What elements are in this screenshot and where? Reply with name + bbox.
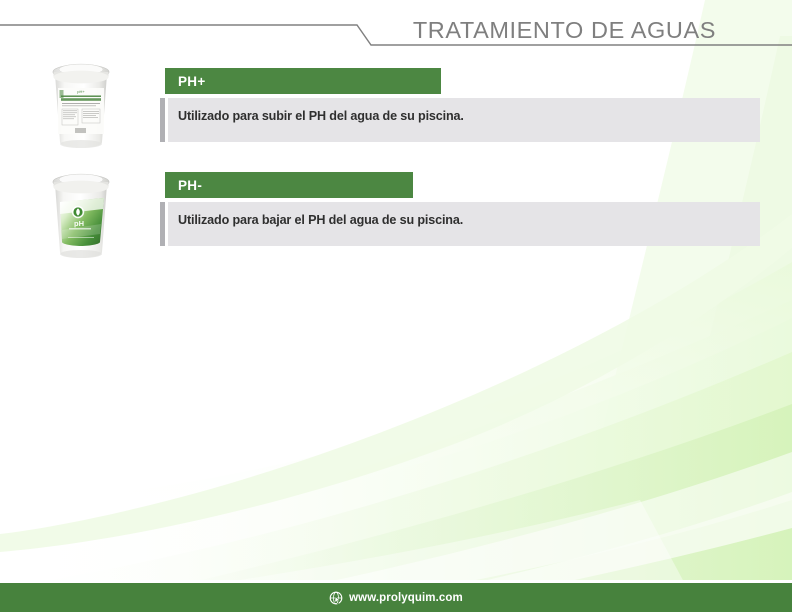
slide-header: TRATAMIENTO DE AGUAS — [0, 0, 792, 56]
page-title: TRATAMIENTO DE AGUAS — [413, 17, 716, 44]
ph-plus-bucket-photo: pH+ — [42, 58, 120, 150]
description-accent-bar — [160, 202, 165, 246]
product-label-text: PH- — [165, 178, 202, 193]
description-accent-bar — [160, 98, 165, 142]
footer-url-text[interactable]: www.prolyquim.com — [349, 592, 463, 604]
footer-content: www.prolyquim.com — [329, 591, 463, 605]
svg-text:pH+: pH+ — [77, 89, 85, 94]
description-text: Utilizado para subir el PH del agua de s… — [178, 109, 464, 123]
ph-minus-bucket-photo: pH — [42, 168, 120, 260]
product-label-text: PH+ — [165, 74, 206, 89]
description-box-ph-plus: Utilizado para subir el PH del agua de s… — [168, 98, 760, 142]
product-label-bar-ph-minus: PH- — [165, 172, 413, 198]
description-text: Utilizado para bajar el PH del agua de s… — [178, 213, 463, 227]
globe-cursor-icon — [329, 591, 343, 605]
description-box-ph-minus: Utilizado para bajar el PH del agua de s… — [168, 202, 760, 246]
svg-text:pH: pH — [74, 219, 84, 228]
slide-footer: www.prolyquim.com — [0, 583, 792, 612]
slide-canvas: TRATAMIENTO DE AGUAS — [0, 0, 792, 612]
product-label-bar-ph-plus: PH+ — [165, 68, 441, 94]
